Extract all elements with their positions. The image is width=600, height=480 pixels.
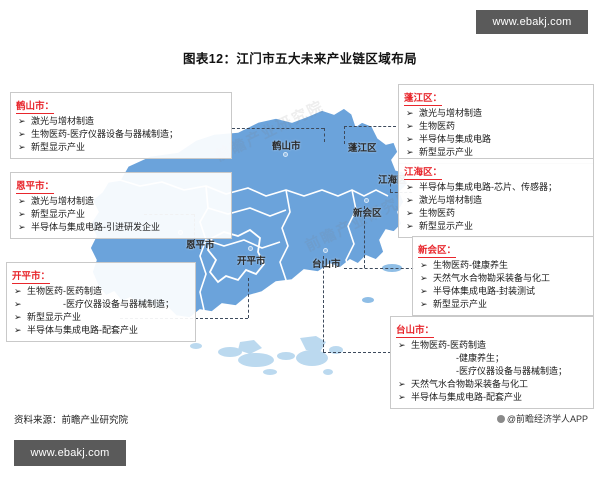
info-box-pengjiang-list: ➢激光与增材制造 ➢生物医药 ➢半导体与集成电路 ➢新型显示产业 (404, 107, 588, 159)
arrow-bullet-icon: ➢ (18, 128, 26, 141)
arrow-bullet-icon: ➢ (14, 311, 22, 324)
list-item: ➢生物医药-医药制造 (396, 339, 588, 352)
connector-xinhui (344, 268, 414, 269)
map-label-heshan: 鹤山市 (272, 138, 301, 152)
list-item: ➢半导体与集成电路-配套产业 (12, 324, 190, 337)
list-item-label: 生物医药-医药制造 (27, 286, 102, 296)
list-item-label: 激光与增材制造 (31, 116, 94, 126)
arrow-bullet-icon: ➢ (14, 285, 22, 298)
list-item: -健康养生； (396, 352, 588, 365)
list-item-label: 半导体与集成电路-配套产业 (411, 392, 522, 402)
info-box-enping[interactable]: 恩平市： ➢激光与增材制造 ➢新型显示产业 ➢半导体与集成电路-引进研发企业 (10, 172, 232, 239)
arrow-bullet-icon: ➢ (406, 133, 414, 146)
list-item-label: 激光与增材制造 (419, 108, 482, 118)
list-item-label: 半导体与集成电路-芯片、传感器； (419, 182, 557, 192)
info-box-pengjiang[interactable]: 蓬江区： ➢激光与增材制造 ➢生物医药 ➢半导体与集成电路 ➢新型显示产业 (398, 84, 594, 164)
chart-page: www.ebakj.com 图表12：江门市五大未来产业链区域布局 (0, 0, 600, 480)
info-box-heshan[interactable]: 鹤山市： ➢激光与增材制造 ➢生物医药-医疗仪器设备与器械制造； ➢新型显示产业 (10, 92, 232, 159)
list-item-label: -健康养生； (411, 353, 504, 363)
watermark-badge-top: www.ebakj.com (476, 10, 588, 34)
list-item: ➢生物医药 (404, 207, 588, 220)
info-box-kaiping-list: ➢生物医药-医药制造 ➢ -医疗仪器设备与器械制造； ➢新型显示产业 ➢半导体与… (12, 285, 190, 337)
arrow-bullet-icon: ➢ (18, 221, 26, 234)
connector-kaiping-v (248, 278, 249, 318)
info-box-xinhui-list: ➢生物医药-健康养生 ➢天然气水合物勘采装备与化工 ➢半导体集成电路-封装测试 … (418, 259, 588, 311)
source-note: 资料来源：前瞻产业研究院 (14, 412, 128, 426)
list-item: ➢半导体与集成电路-配套产业 (396, 391, 588, 404)
info-box-heshan-list: ➢激光与增材制造 ➢生物医药-医疗仪器设备与器械制造； ➢新型显示产业 (16, 115, 226, 154)
list-item-label: 生物医药-医疗仪器设备与器械制造； (31, 129, 178, 139)
list-item: ➢激光与增材制造 (404, 194, 588, 207)
arrow-bullet-icon: ➢ (406, 194, 414, 207)
list-item: ➢生物医药-健康养生 (418, 259, 588, 272)
list-item: -医疗仪器设备与器械制造； (396, 365, 588, 378)
list-item: ➢半导体与集成电路-引进研发企业 (16, 221, 226, 234)
list-item: ➢半导体集成电路-封装测试 (418, 285, 588, 298)
watermark-badge-top-label: www.ebakj.com (492, 16, 571, 28)
arrow-bullet-icon: ➢ (18, 208, 26, 221)
list-item-label: 天然气水合物勘采装备与化工 (433, 273, 550, 283)
info-box-jianghai-title: 江海区： (404, 167, 442, 180)
connector-xinhui-v (364, 206, 365, 268)
map-dot-kaiping (248, 246, 253, 251)
arrow-bullet-icon: ➢ (18, 115, 26, 128)
list-item-label: -医疗仪器设备与器械制造； (27, 299, 174, 309)
app-credit-label: @前瞻经济学人APP (507, 412, 588, 425)
connector-pengjiang-v (344, 126, 345, 144)
map-label-kaiping: 开平市 (237, 253, 266, 267)
info-box-enping-title: 恩平市： (16, 181, 54, 194)
app-logo-icon (497, 415, 505, 423)
info-box-taishan[interactable]: 台山市： ➢生物医药-医药制造 -健康养生； -医疗仪器设备与器械制造； ➢天然… (390, 316, 594, 409)
info-box-jianghai[interactable]: 江海区： ➢半导体与集成电路-芯片、传感器； ➢激光与增材制造 ➢生物医药 ➢新… (398, 158, 594, 238)
arrow-bullet-icon: ➢ (420, 298, 428, 311)
arrow-bullet-icon: ➢ (398, 378, 406, 391)
list-item: ➢激光与增材制造 (404, 107, 588, 120)
connector-heshan (232, 128, 324, 129)
list-item: ➢天然气水合物勘采装备与化工 (418, 272, 588, 285)
arrow-bullet-icon: ➢ (420, 259, 428, 272)
list-item-label: 新型显示产业 (31, 209, 85, 219)
arrow-bullet-icon: ➢ (406, 181, 414, 194)
list-item-label: 生物医药-健康养生 (433, 260, 508, 270)
info-box-pengjiang-title: 蓬江区： (404, 93, 442, 106)
arrow-bullet-icon: ➢ (406, 107, 414, 120)
list-item: ➢新型显示产业 (404, 220, 588, 233)
list-item-label: 激光与增材制造 (31, 196, 94, 206)
map-label-pengjiang: 蓬江区 (348, 140, 377, 154)
list-item-label: 新型显示产业 (27, 312, 81, 322)
app-credit: @前瞻经济学人APP (497, 412, 588, 425)
arrow-bullet-icon: ➢ (406, 220, 414, 233)
map-label-taishan: 台山市 (312, 256, 341, 270)
list-item-label: 新型显示产业 (419, 221, 473, 231)
arrow-bullet-icon: ➢ (406, 120, 414, 133)
list-item-label: 新型显示产业 (433, 299, 487, 309)
list-item: ➢新型显示产业 (12, 311, 190, 324)
list-item: ➢新型显示产业 (418, 298, 588, 311)
list-item-label: 半导体集成电路-封装测试 (433, 286, 535, 296)
arrow-bullet-icon: ➢ (420, 272, 428, 285)
info-box-xinhui[interactable]: 新会区： ➢生物医药-健康养生 ➢天然气水合物勘采装备与化工 ➢半导体集成电路-… (412, 236, 594, 316)
map-dot-taishan (323, 248, 328, 253)
list-item: ➢天然气水合物勘采装备与化工 (396, 378, 588, 391)
info-box-heshan-title: 鹤山市： (16, 101, 54, 114)
list-item: ➢激光与增材制造 (16, 195, 226, 208)
arrow-bullet-icon: ➢ (18, 195, 26, 208)
list-item-label: 新型显示产业 (31, 142, 85, 152)
list-item: ➢生物医药-医药制造 (12, 285, 190, 298)
info-box-kaiping-title: 开平市： (12, 271, 50, 284)
map-label-xinhui: 新会区 (353, 205, 382, 219)
list-item-label: 半导体与集成电路 (419, 134, 491, 144)
list-item-label: 新型显示产业 (419, 147, 473, 157)
arrow-bullet-icon: ➢ (398, 391, 406, 404)
list-item-label: 生物医药 (419, 121, 455, 131)
list-item: ➢半导体与集成电路 (404, 133, 588, 146)
list-item: ➢生物医药-医疗仪器设备与器械制造； (16, 128, 226, 141)
list-item: ➢激光与增材制造 (16, 115, 226, 128)
info-box-taishan-title: 台山市： (396, 325, 434, 338)
arrow-bullet-icon: ➢ (420, 285, 428, 298)
arrow-bullet-icon: ➢ (14, 298, 22, 311)
connector-taishan (323, 352, 391, 353)
list-item-label: 生物医药 (419, 208, 455, 218)
info-box-taishan-list: ➢生物医药-医药制造 -健康养生； -医疗仪器设备与器械制造； ➢天然气水合物勘… (396, 339, 588, 404)
list-item: ➢生物医药 (404, 120, 588, 133)
map-islands (190, 336, 343, 375)
info-box-xinhui-title: 新会区： (418, 245, 456, 258)
arrow-bullet-icon: ➢ (14, 324, 22, 337)
connector-pengjiang (344, 126, 396, 127)
connector-jianghai-v (390, 178, 391, 192)
map-dot-xinhui (364, 198, 369, 203)
map-label-enping: 恩平市 (186, 237, 215, 251)
arrow-bullet-icon: ➢ (398, 339, 406, 352)
info-box-jianghai-list: ➢半导体与集成电路-芯片、传感器； ➢激光与增材制造 ➢生物医药 ➢新型显示产业 (404, 181, 588, 233)
watermark-badge-bottom-label: www.ebakj.com (30, 447, 109, 459)
watermark-badge-bottom: www.ebakj.com (14, 440, 126, 466)
list-item-label: 半导体与集成电路-引进研发企业 (31, 222, 160, 232)
arrow-bullet-icon: ➢ (406, 207, 414, 220)
connector-taishan-v (323, 256, 324, 352)
map-sea-strip (362, 264, 402, 303)
list-item: ➢新型显示产业 (16, 141, 226, 154)
connector-heshan-v (324, 128, 325, 142)
list-item-label: 半导体与集成电路-配套产业 (27, 325, 138, 335)
info-box-enping-list: ➢激光与增材制造 ➢新型显示产业 ➢半导体与集成电路-引进研发企业 (16, 195, 226, 234)
list-item-label: 激光与增材制造 (419, 195, 482, 205)
list-item-label: 生物医药-医药制造 (411, 340, 486, 350)
list-item-label: -医疗仪器设备与器械制造； (411, 366, 567, 376)
arrow-bullet-icon: ➢ (18, 141, 26, 154)
list-item: ➢新型显示产业 (16, 208, 226, 221)
map-dot-heshan (283, 152, 288, 157)
list-item: ➢ -医疗仪器设备与器械制造； (12, 298, 190, 311)
list-item: ➢半导体与集成电路-芯片、传感器； (404, 181, 588, 194)
list-item-label: 天然气水合物勘采装备与化工 (411, 379, 528, 389)
info-box-kaiping[interactable]: 开平市： ➢生物医药-医药制造 ➢ -医疗仪器设备与器械制造； ➢新型显示产业 … (6, 262, 196, 342)
